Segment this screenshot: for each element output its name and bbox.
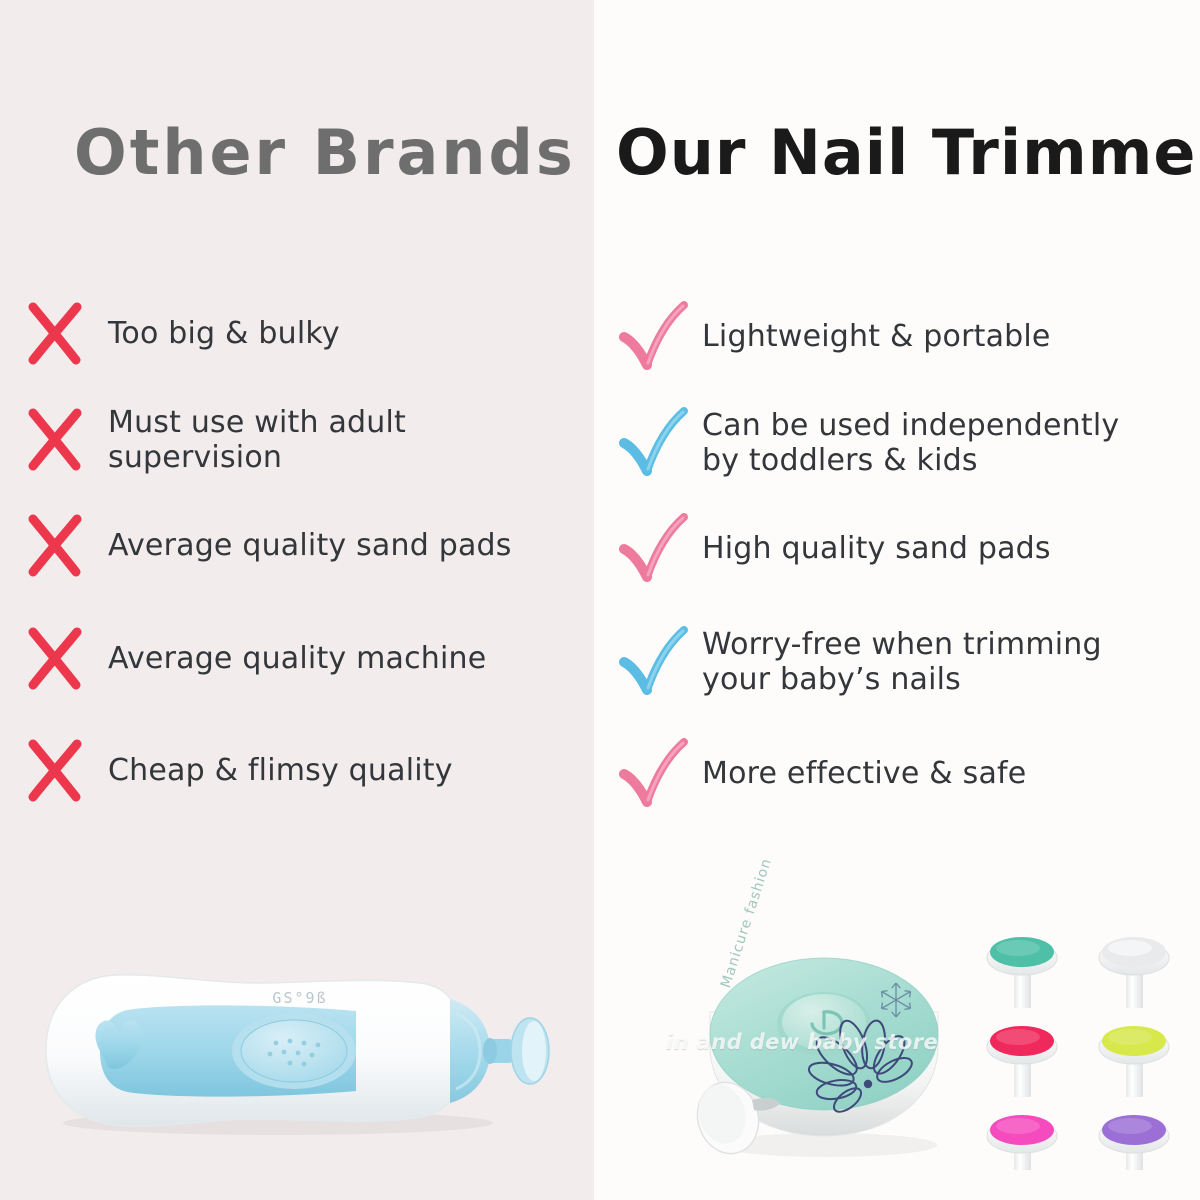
pad-teal	[987, 937, 1057, 1008]
pad-purple	[1099, 1115, 1169, 1170]
cross-mark-icon	[20, 622, 90, 696]
feature-label: Average quality sand pads	[108, 528, 512, 563]
device-label: GS°9ß	[272, 989, 327, 1007]
check-mark-icon	[616, 403, 694, 483]
other-brands-column: Other Brands Too big & bulky	[0, 0, 594, 1200]
feature-label: Too big & bulky	[108, 316, 340, 351]
check-mark-icon	[616, 297, 694, 377]
feature-line-1: Can be used independently	[702, 408, 1119, 443]
comparison-infographic: Other Brands Too big & bulky	[0, 0, 1200, 1200]
feature-line-1: High quality sand pads	[702, 531, 1051, 566]
feature-label: More effective & safe	[702, 756, 1026, 791]
feature-label: Average quality machine	[108, 641, 486, 676]
feature-line-1: Average quality machine	[108, 641, 486, 676]
feature-row-adult-supervision: Must use with adult supervision	[20, 403, 580, 477]
pad-magenta	[987, 1115, 1057, 1170]
our-product-image	[672, 950, 972, 1165]
feature-label: High quality sand pads	[702, 531, 1051, 566]
check-mark-icon	[616, 509, 694, 589]
feature-line-2: your baby’s nails	[702, 662, 961, 697]
feature-row-high-quality-sand-pads: High quality sand pads	[616, 509, 1196, 589]
feature-label: Must use with adult supervision	[108, 405, 406, 476]
feature-row-too-big-bulky: Too big & bulky	[20, 297, 580, 371]
other-brands-heading: Other Brands	[74, 116, 576, 189]
pad-crimson	[987, 1026, 1057, 1097]
feature-row-used-independently: Can be used independently by toddlers & …	[616, 403, 1196, 483]
feature-line-1: More effective & safe	[702, 756, 1026, 791]
feature-line-1: Too big & bulky	[108, 316, 340, 351]
our-nail-trimmer-heading: Our Nail Trimmer	[616, 116, 1200, 189]
cross-mark-icon	[20, 297, 90, 371]
feature-line-1: Lightweight & portable	[702, 319, 1051, 354]
cross-mark-icon	[20, 509, 90, 583]
feature-line-2: supervision	[108, 440, 282, 475]
feature-label: Cheap & flimsy quality	[108, 753, 453, 788]
sanding-pads-group	[975, 920, 1190, 1170]
feature-label: Can be used independently by toddlers & …	[702, 408, 1119, 479]
feature-line-1: Must use with adult	[108, 405, 406, 440]
feature-row-cheap-flimsy: Cheap & flimsy quality	[20, 734, 580, 808]
feature-line-1: Cheap & flimsy quality	[108, 753, 453, 788]
feature-row-more-effective-safe: More effective & safe	[616, 734, 1196, 814]
feature-line-1: Average quality sand pads	[108, 528, 512, 563]
feature-row-lightweight-portable: Lightweight & portable	[616, 297, 1196, 377]
check-mark-icon	[616, 622, 694, 702]
feature-label: Worry-free when trimming your baby’s nai…	[702, 627, 1102, 698]
check-mark-icon	[616, 734, 694, 814]
pad-lime	[1099, 1026, 1169, 1097]
feature-row-worry-free: Worry-free when trimming your baby’s nai…	[616, 622, 1196, 702]
feature-row-average-machine: Average quality machine	[20, 622, 580, 696]
feature-label: Lightweight & portable	[702, 319, 1051, 354]
feature-row-average-sand-pads: Average quality sand pads	[20, 509, 580, 583]
pad-white	[1099, 937, 1169, 1008]
cross-mark-icon	[20, 403, 90, 477]
cross-mark-icon	[20, 734, 90, 808]
feature-line-1: Worry-free when trimming	[702, 627, 1102, 662]
other-brand-product-image: GS°9ß	[38, 955, 558, 1145]
feature-line-2: by toddlers & kids	[702, 443, 978, 478]
